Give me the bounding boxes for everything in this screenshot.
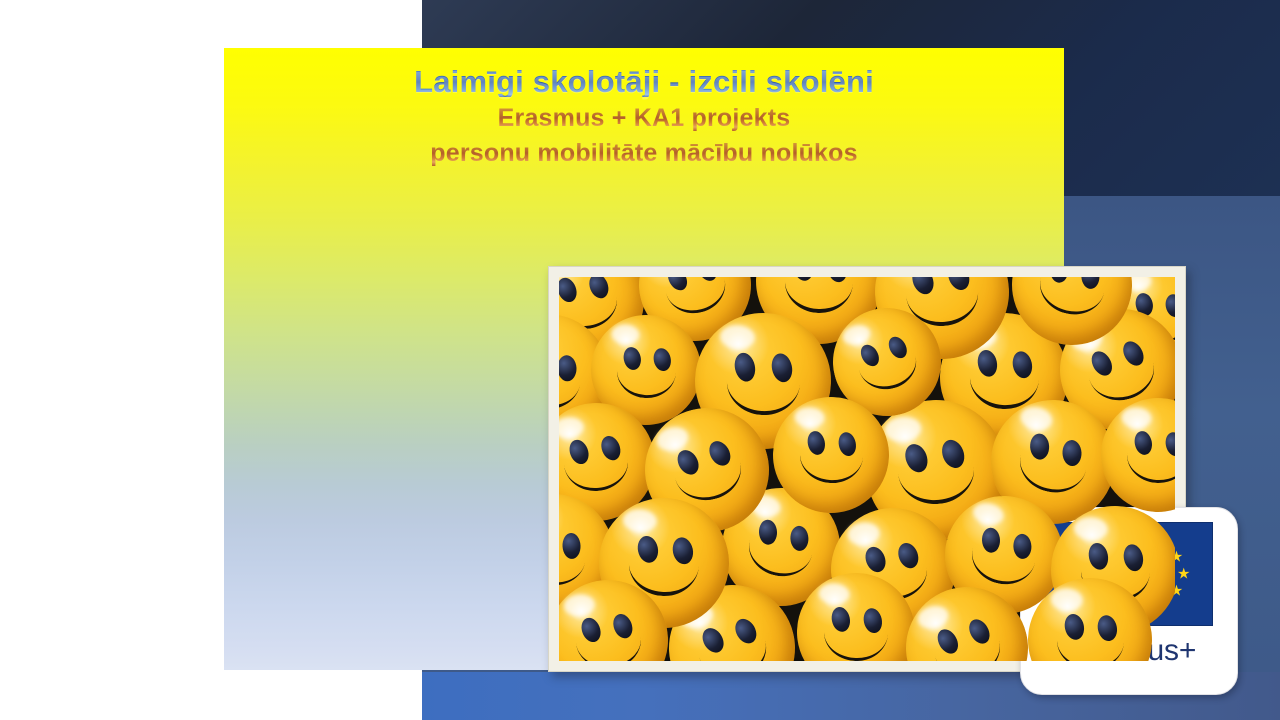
smiley-mouth xyxy=(564,454,631,493)
smiley-balls-photo xyxy=(559,277,1175,661)
smiley-mouth xyxy=(725,374,801,418)
smiley-mouth xyxy=(898,461,977,507)
smiley-mouth xyxy=(576,632,644,661)
smiley-mouth xyxy=(822,625,888,661)
smiley-mouth xyxy=(1055,633,1124,661)
heading-group: Laimīgi skolotāji - izcili skolēni Erasm… xyxy=(224,66,1064,166)
subtitle-programme: Erasmus + KA1 projekts xyxy=(224,106,1064,131)
page-title: Laimīgi skolotāji - izcili skolēni xyxy=(224,66,1064,97)
smiley-mouth xyxy=(782,277,852,315)
smiley-mouth xyxy=(798,447,863,484)
content-panel: Laimīgi skolotāji - izcili skolēni Erasm… xyxy=(224,48,1064,670)
presentation-slide: Laimīgi skolotāji - izcili skolēni Erasm… xyxy=(0,0,1280,720)
smiley-mouth xyxy=(615,364,676,400)
subtitle-action: personu mobilitāte mācību nolūkos xyxy=(224,141,1064,166)
photo-frame xyxy=(548,266,1186,672)
smiley-mouth xyxy=(1126,447,1175,484)
